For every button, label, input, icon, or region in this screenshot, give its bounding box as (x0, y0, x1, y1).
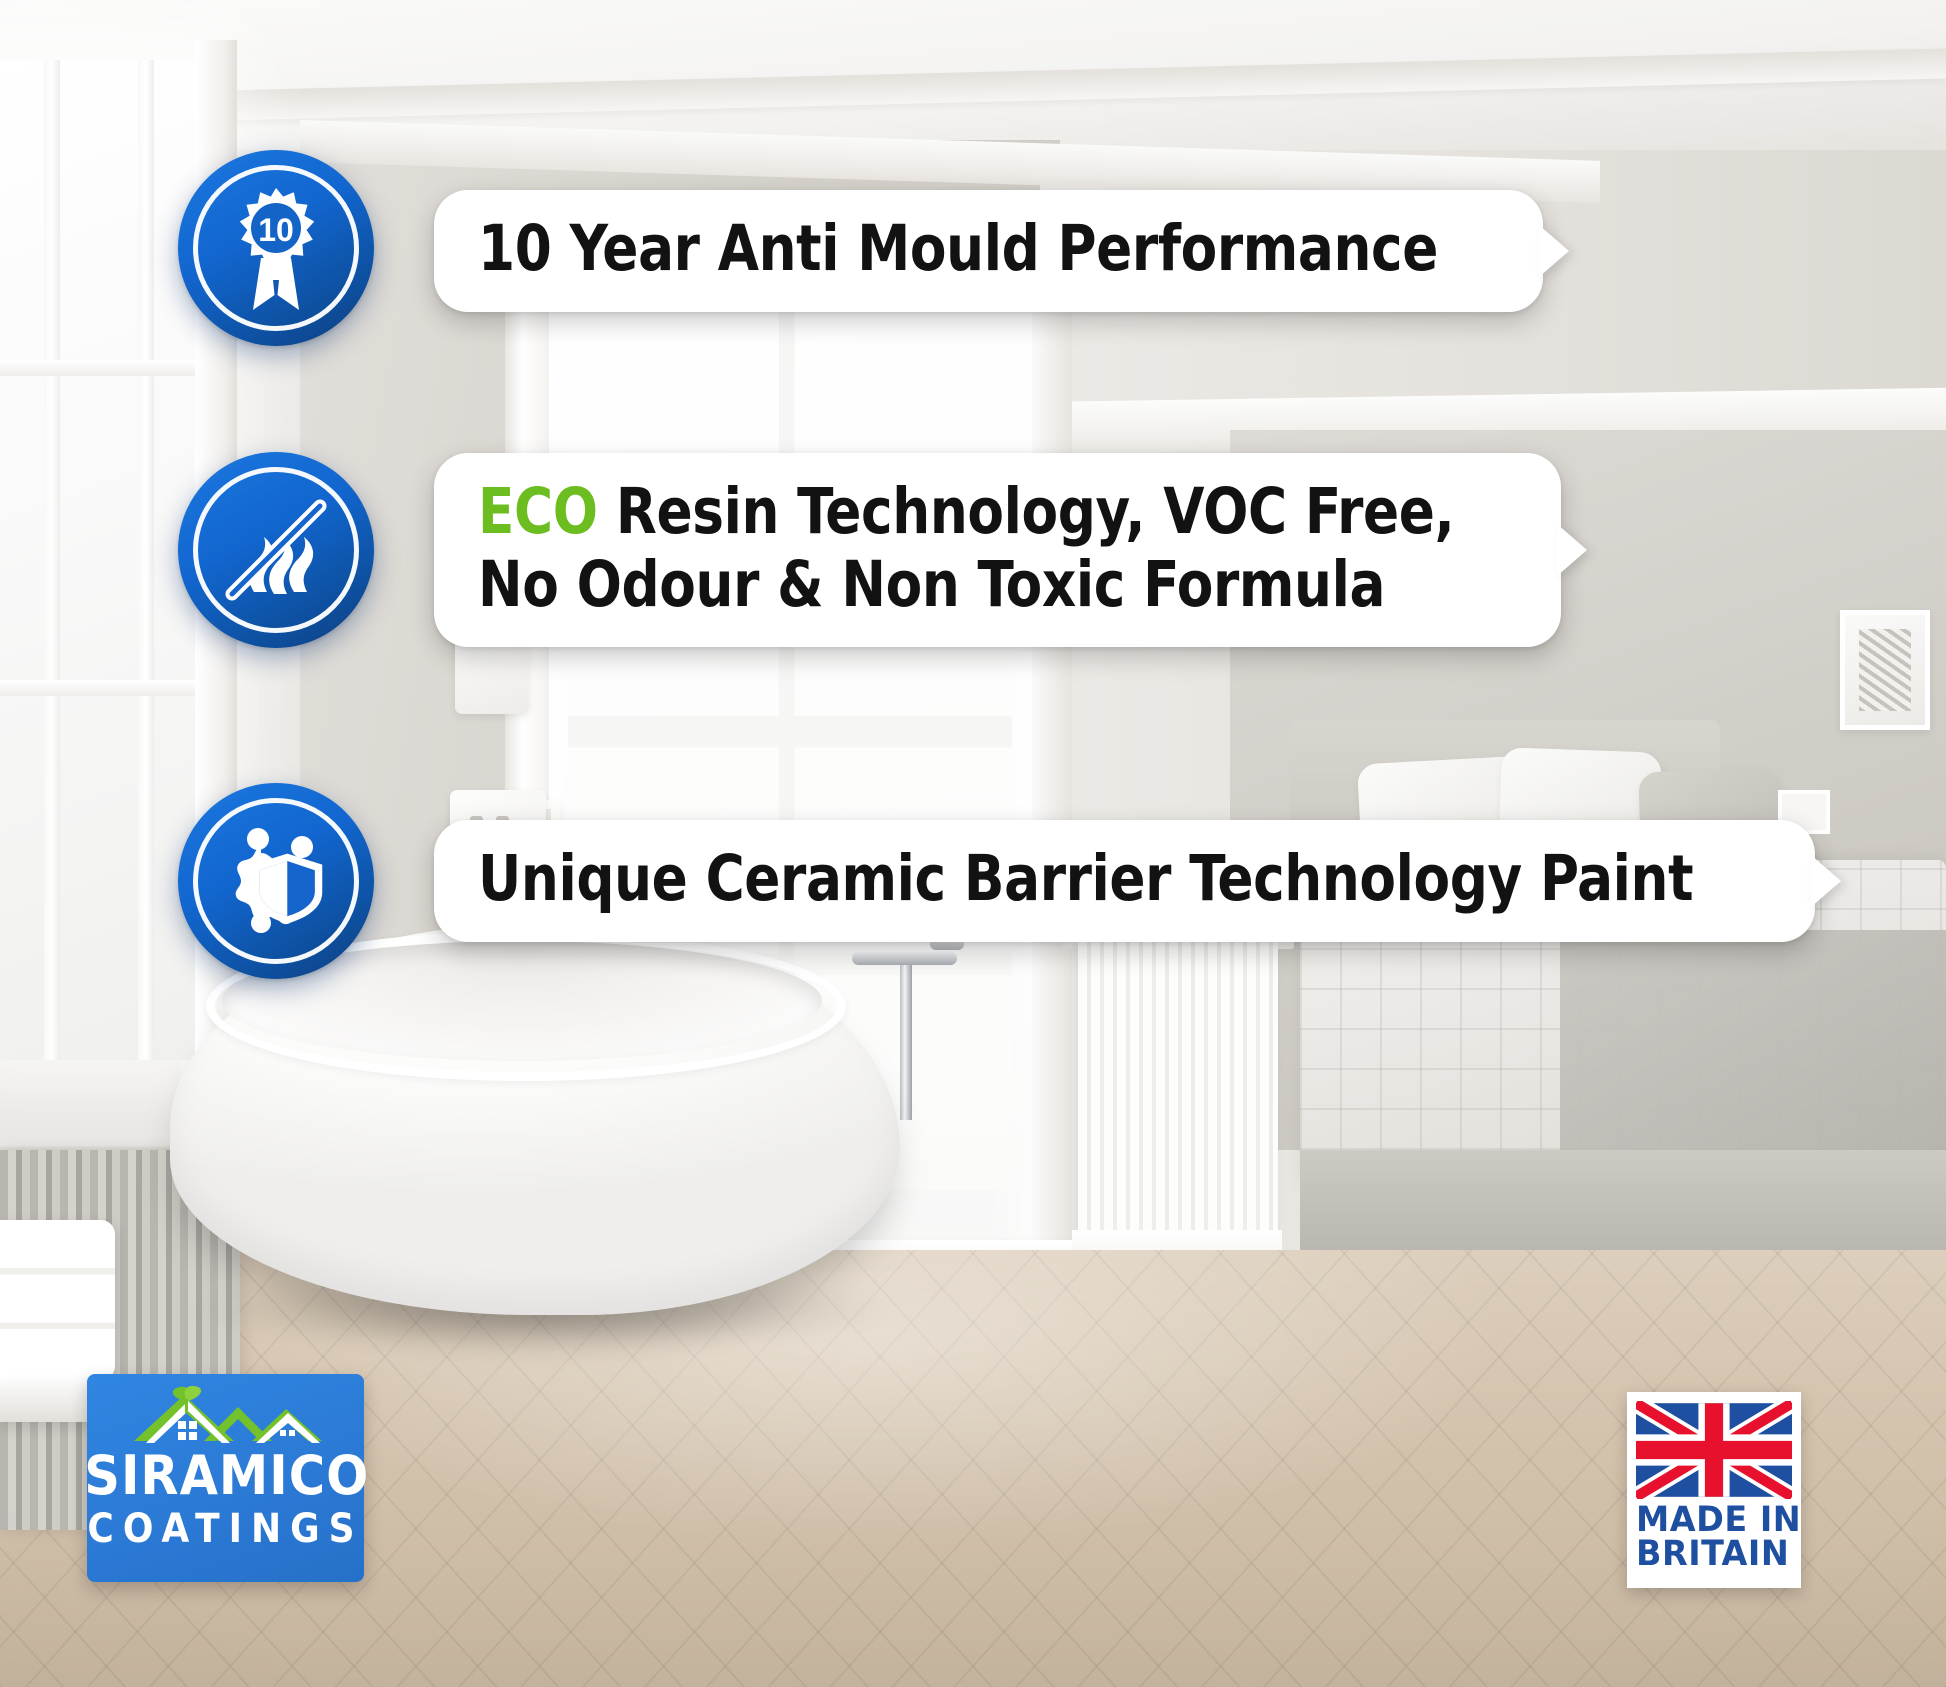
marketing-image-canvas: 10 10 Year Anti Mould Performance (0, 0, 1946, 1687)
feature-label-ceramic-barrier: Unique Ceramic Barrier Technology Paint (478, 842, 1693, 915)
feature-text-bubble-anti-mould: 10 Year Anti Mould Performance (434, 190, 1543, 311)
feature-text-bubble-ceramic-barrier: Unique Ceramic Barrier Technology Paint (434, 820, 1815, 941)
mib-line-2: BRITAIN (1636, 1538, 1801, 1572)
feature-row-anti-mould: 10 10 Year Anti Mould Performance (178, 150, 1543, 346)
logo-line-1: SIRAMICO (84, 1449, 367, 1503)
made-in-britain-text: MADE IN BRITAIN (1636, 1504, 1801, 1571)
eco-line-2: No Odour & Non Toxic Formula (478, 548, 1385, 621)
mib-line-1: MADE IN (1636, 1504, 1801, 1538)
eco-line-1-rest: Resin Technology, VOC Free, (598, 475, 1455, 548)
feature-text-bubble-eco-resin: ECO Resin Technology, VOC Free,No Odour … (434, 453, 1561, 647)
made-in-britain-badge: MADE IN BRITAIN (1627, 1392, 1801, 1588)
award-ribbon-10-year-icon: 10 (178, 150, 374, 346)
logo-line-2: COATINGS (87, 1509, 364, 1549)
feature-label-eco-resin: ECO Resin Technology, VOC Free,No Odour … (478, 475, 1454, 621)
svg-text:10: 10 (258, 212, 294, 248)
no-odour-no-fumes-icon (178, 452, 374, 648)
bubble-tail (1811, 855, 1841, 907)
eco-highlight: ECO (478, 475, 598, 548)
bubble-tail (1557, 524, 1587, 576)
feature-row-ceramic-barrier: Unique Ceramic Barrier Technology Paint (178, 783, 1815, 979)
house-roofs-with-leaf-icon (126, 1383, 326, 1445)
siramico-coatings-logo: SIRAMICO COATINGS (87, 1374, 364, 1582)
bubble-tail (1539, 225, 1569, 277)
feature-label-anti-mould: 10 Year Anti Mould Performance (478, 212, 1438, 285)
union-jack-flag (1636, 1401, 1792, 1499)
mould-shield-protection-icon (178, 783, 374, 979)
feature-row-eco-resin: ECO Resin Technology, VOC Free,No Odour … (178, 452, 1561, 648)
